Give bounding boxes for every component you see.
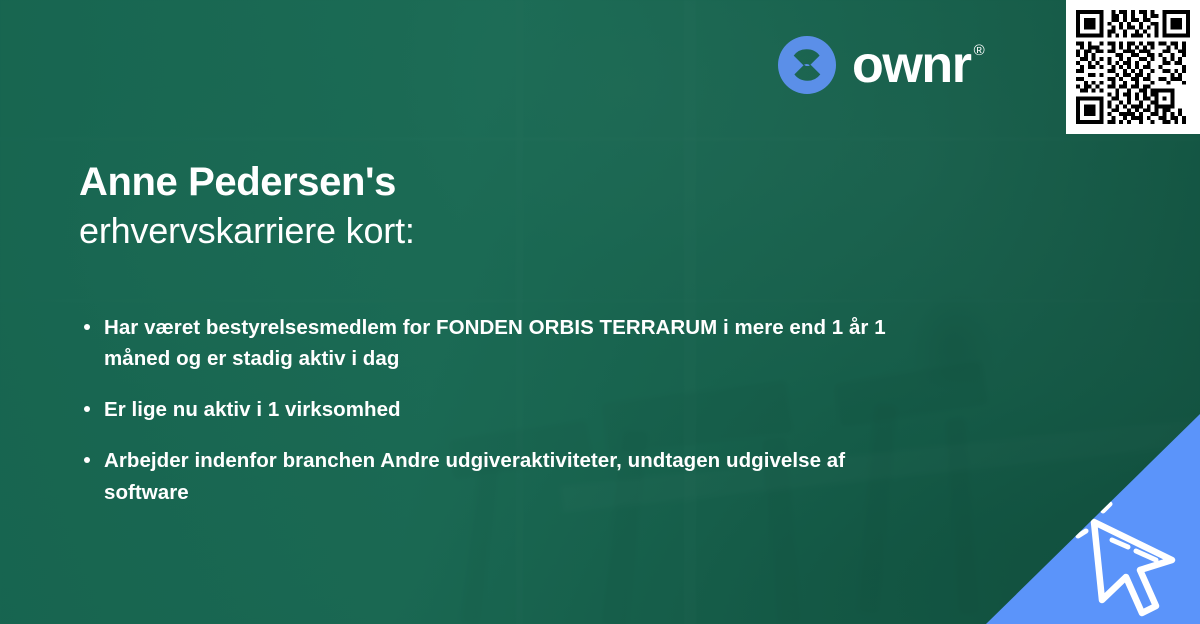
ownr-swirl-logo-icon xyxy=(778,36,836,94)
headline-line-1: Anne Pedersen's xyxy=(79,160,699,205)
list-item: Har været bestyrelsesmedlem for FONDEN O… xyxy=(82,312,922,374)
registered-trademark-icon: ® xyxy=(974,43,985,58)
career-card: ownr ® xyxy=(0,0,1200,624)
qr-code xyxy=(1076,10,1190,124)
ownr-wordmark: ownr xyxy=(852,39,971,91)
career-facts-list: Har været bestyrelsesmedlem for FONDEN O… xyxy=(82,312,922,528)
ownr-logo[interactable]: ownr ® xyxy=(778,36,985,94)
list-item: Arbejder indenfor branchen Andre udgiver… xyxy=(82,445,922,507)
headline-line-2: erhvervskarriere kort: xyxy=(79,209,699,253)
list-item: Er lige nu aktiv i 1 virksomhed xyxy=(82,394,922,425)
qr-code-panel[interactable] xyxy=(1066,0,1200,134)
page-title: Anne Pedersen's erhvervskarriere kort: xyxy=(79,160,699,253)
